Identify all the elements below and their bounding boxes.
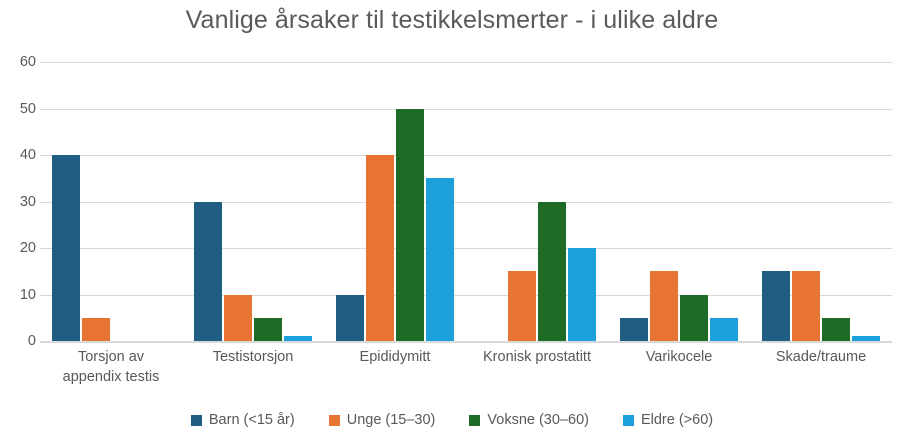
bar[interactable] xyxy=(366,155,394,341)
bar-group xyxy=(40,62,182,341)
bar[interactable] xyxy=(538,202,566,342)
x-tick-label-line: Skade/traume xyxy=(750,347,892,367)
x-tick-label: Testistorsjon xyxy=(182,347,324,367)
bar[interactable] xyxy=(650,271,678,341)
bar[interactable] xyxy=(82,318,110,341)
legend-swatch-icon xyxy=(469,415,480,426)
bar-group xyxy=(182,62,324,341)
x-tick-label: Kronisk prostatitt xyxy=(466,347,608,367)
legend-item[interactable]: Unge (15–30) xyxy=(329,412,436,428)
bars-layer xyxy=(40,62,892,341)
y-tick-label: 0 xyxy=(2,334,36,349)
x-tick-label-line: Epididymitt xyxy=(324,347,466,367)
x-tick-label-line: Kronisk prostatitt xyxy=(466,347,608,367)
bar[interactable] xyxy=(396,109,424,342)
chart-legend: Barn (<15 år)Unge (15–30)Voksne (30–60)E… xyxy=(0,412,904,428)
legend-label: Voksne (30–60) xyxy=(487,412,589,428)
legend-label: Barn (<15 år) xyxy=(209,412,295,428)
y-axis: 0102030405060 xyxy=(0,62,36,341)
y-tick-label: 40 xyxy=(2,148,36,163)
bar[interactable] xyxy=(254,318,282,341)
legend-item[interactable]: Voksne (30–60) xyxy=(469,412,589,428)
legend-swatch-icon xyxy=(623,415,634,426)
bar[interactable] xyxy=(568,248,596,341)
bar[interactable] xyxy=(822,318,850,341)
chart-title: Vanlige årsaker til testikkelsmerter - i… xyxy=(0,6,904,35)
bar-group xyxy=(608,62,750,341)
bar[interactable] xyxy=(224,295,252,342)
bar[interactable] xyxy=(284,336,312,341)
y-tick-label: 60 xyxy=(2,55,36,70)
x-axis: Torsjon avappendix testisTestistorsjonEp… xyxy=(40,347,892,397)
x-tick-label-line: Varikocele xyxy=(608,347,750,367)
bar-group xyxy=(466,62,608,341)
y-tick-label: 30 xyxy=(2,194,36,209)
bar-group xyxy=(324,62,466,341)
x-tick-label: Epididymitt xyxy=(324,347,466,367)
legend-label: Unge (15–30) xyxy=(347,412,436,428)
x-tick-label: Varikocele xyxy=(608,347,750,367)
bar[interactable] xyxy=(710,318,738,341)
x-tick-label-line: Testistorsjon xyxy=(182,347,324,367)
x-tick-label: Skade/traume xyxy=(750,347,892,367)
legend-item[interactable]: Barn (<15 år) xyxy=(191,412,295,428)
bar[interactable] xyxy=(508,271,536,341)
bar[interactable] xyxy=(426,178,454,341)
x-tick-label: Torsjon avappendix testis xyxy=(40,347,182,387)
bar[interactable] xyxy=(852,336,880,341)
bar[interactable] xyxy=(194,202,222,342)
legend-label: Eldre (>60) xyxy=(641,412,713,428)
x-tick-label-line: Torsjon av xyxy=(40,347,182,367)
bar-chart: Vanlige årsaker til testikkelsmerter - i… xyxy=(0,0,904,444)
gridline xyxy=(40,341,892,343)
bar-group xyxy=(750,62,892,341)
bar[interactable] xyxy=(336,295,364,342)
bar[interactable] xyxy=(620,318,648,341)
bar[interactable] xyxy=(680,295,708,342)
y-tick-label: 20 xyxy=(2,241,36,256)
legend-swatch-icon xyxy=(329,415,340,426)
legend-swatch-icon xyxy=(191,415,202,426)
y-tick-label: 10 xyxy=(2,287,36,302)
bar[interactable] xyxy=(52,155,80,341)
y-tick-label: 50 xyxy=(2,101,36,116)
bar[interactable] xyxy=(792,271,820,341)
bar[interactable] xyxy=(762,271,790,341)
legend-item[interactable]: Eldre (>60) xyxy=(623,412,713,428)
x-tick-label-line: appendix testis xyxy=(40,367,182,387)
